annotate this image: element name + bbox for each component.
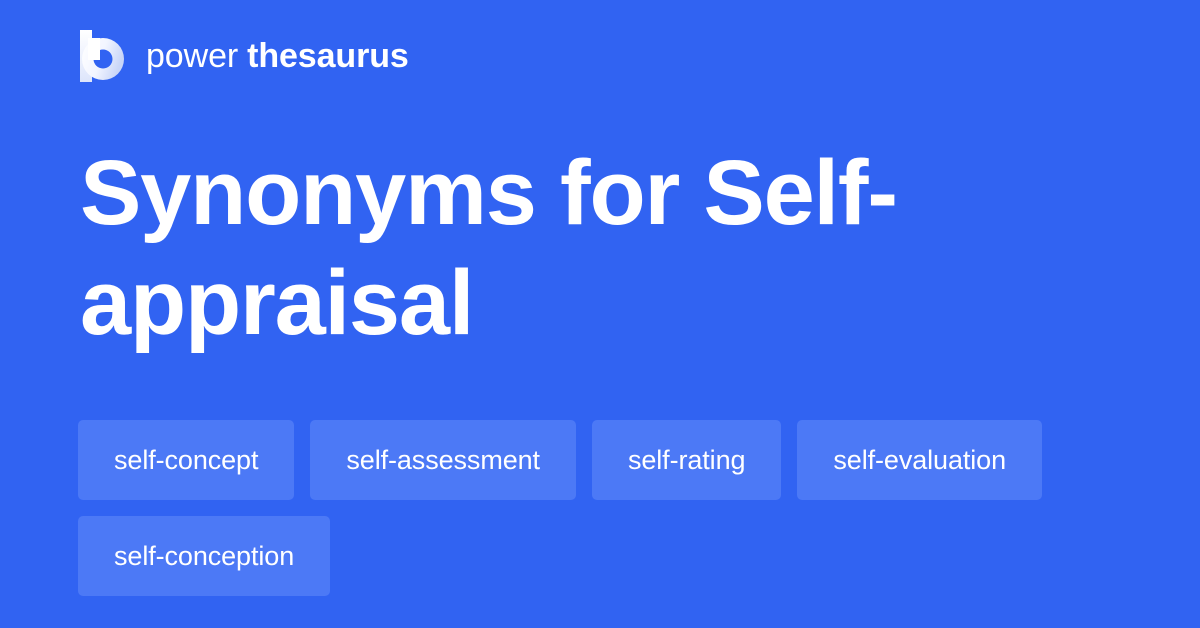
brand-logo[interactable]: power thesaurus — [80, 26, 409, 86]
brand-name-first: power — [146, 39, 238, 73]
page-title: Synonyms for Self-appraisal — [80, 138, 960, 359]
synonym-chip[interactable]: self-rating — [592, 420, 781, 500]
brand-name-second: thesaurus — [247, 39, 409, 73]
brand-name: power thesaurus — [146, 39, 409, 73]
synonym-chip-list: self-concept self-assessment self-rating… — [78, 420, 1128, 596]
synonym-chip[interactable]: self-concept — [78, 420, 294, 500]
share-card: power thesaurus Synonyms for Self-apprai… — [0, 0, 1200, 628]
synonym-chip[interactable]: self-conception — [78, 516, 330, 596]
synonym-chip[interactable]: self-evaluation — [797, 420, 1042, 500]
synonym-chip[interactable]: self-assessment — [310, 420, 576, 500]
power-thesaurus-b-logo-icon — [80, 30, 124, 82]
